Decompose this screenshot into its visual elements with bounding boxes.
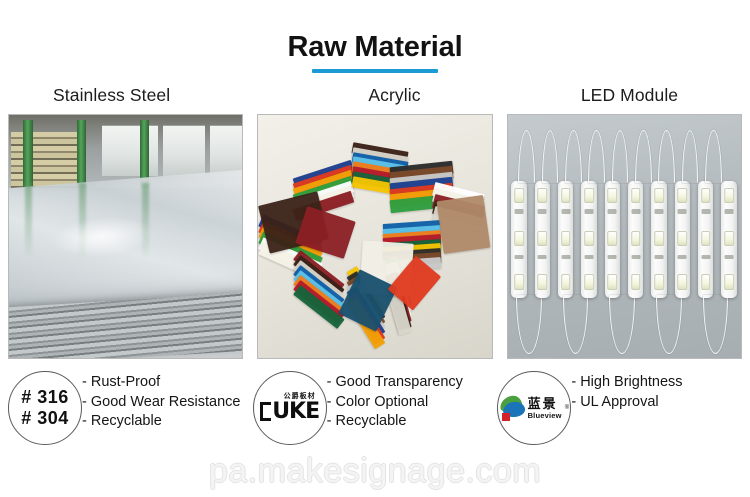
module-label — [585, 209, 594, 214]
blueview-logo-text: 蓝景 Blueview — [528, 398, 562, 420]
led-chip — [608, 188, 618, 203]
led-chip — [584, 188, 594, 203]
warehouse-window — [210, 125, 243, 176]
module-label — [725, 255, 734, 260]
feature-item: - Good Wear Resistance — [82, 393, 241, 412]
feature-list-acrylic: - Good Transparency - Color Optional - R… — [327, 367, 463, 431]
led-module — [535, 181, 550, 298]
feature-item: - Rust-Proof — [82, 373, 241, 392]
feature-cell-led-module: 蓝景 Blueview ® - High Brightness - UL App… — [497, 367, 742, 453]
led-chip — [654, 274, 664, 289]
led-chip — [561, 274, 571, 289]
module-label — [678, 209, 687, 214]
column-heading-led-module: LED Module — [581, 85, 678, 105]
led-module — [628, 181, 643, 298]
module-label — [701, 255, 710, 260]
module-label — [538, 255, 547, 260]
duke-logo: 公爵板材 UKE — [260, 393, 319, 423]
module-label — [725, 209, 734, 214]
led-chip — [514, 231, 524, 246]
led-module — [721, 181, 736, 298]
product-image-stainless-steel — [8, 114, 243, 359]
module-label — [655, 255, 664, 260]
duke-logo-wordmark: UKE — [260, 401, 319, 423]
blueview-chinese-text: 蓝景 — [528, 398, 562, 411]
led-chip — [678, 231, 688, 246]
brand-badge-led-module: 蓝景 Blueview ® — [497, 371, 571, 445]
blueview-swoosh-icon — [500, 395, 526, 421]
led-chip — [701, 231, 711, 246]
led-chip — [654, 188, 664, 203]
led-chip — [561, 231, 571, 246]
module-label — [561, 255, 570, 260]
led-chip — [654, 231, 664, 246]
module-label — [701, 209, 710, 214]
led-chip — [724, 188, 734, 203]
column-heading-acrylic: Acrylic — [368, 85, 420, 105]
module-label — [515, 255, 524, 260]
led-chip — [538, 231, 548, 246]
led-module — [651, 181, 666, 298]
module-label — [608, 255, 617, 260]
led-chip — [561, 188, 571, 203]
grade-badge-stainless-steel: # 316 # 304 — [8, 371, 82, 445]
led-chip — [724, 231, 734, 246]
blueview-wordmark: Blueview — [528, 412, 562, 420]
product-image-acrylic — [257, 114, 492, 359]
led-chip — [631, 188, 641, 203]
led-chip — [514, 274, 524, 289]
feature-item: - Good Transparency — [327, 373, 463, 392]
swoosh-red-square — [502, 413, 510, 421]
led-chip — [701, 188, 711, 203]
feature-list-led-module: - High Brightness - UL Approval — [571, 367, 682, 412]
led-module — [675, 181, 690, 298]
feature-row: # 316 # 304 - Rust-Proof - Good Wear Res… — [0, 367, 750, 453]
led-chip — [608, 274, 618, 289]
led-chip — [584, 231, 594, 246]
led-chip — [724, 274, 734, 289]
module-label — [655, 209, 664, 214]
feature-item: - UL Approval — [571, 393, 682, 412]
feature-item: - High Brightness — [571, 373, 682, 392]
led-chip — [514, 188, 524, 203]
led-module — [511, 181, 526, 298]
led-module — [698, 181, 713, 298]
feature-cell-stainless-steel: # 316 # 304 - Rust-Proof - Good Wear Res… — [8, 367, 253, 453]
led-module — [558, 181, 573, 298]
column-heading-cell-stainless-steel: Stainless Steel — [8, 85, 278, 106]
led-chip — [678, 274, 688, 289]
feature-item: - Color Optional — [327, 393, 463, 412]
brand-badge-acrylic: 公爵板材 UKE — [253, 371, 327, 445]
column-heading-cell-led-module: LED Module — [507, 85, 742, 106]
grade-badge-line-316: # 316 — [21, 387, 69, 408]
led-chip — [538, 188, 548, 203]
module-label — [678, 255, 687, 260]
pillar-reflection — [25, 183, 32, 256]
column-heading-stainless-steel: Stainless Steel — [53, 85, 170, 105]
product-photo-row — [0, 114, 750, 359]
page-title: Raw Material — [0, 32, 750, 62]
led-chip — [608, 231, 618, 246]
feature-list-stainless-steel: - Rust-Proof - Good Wear Resistance - Re… — [82, 367, 241, 431]
feature-cell-acrylic: 公爵板材 UKE - Good Transparency - Color Opt… — [253, 367, 498, 453]
warehouse-window — [163, 125, 205, 176]
registered-trademark-icon: ® — [565, 405, 569, 411]
site-watermark: pa.makesignage.com — [0, 452, 750, 491]
warehouse-window — [102, 125, 158, 176]
led-chip — [701, 274, 711, 289]
module-label — [515, 209, 524, 214]
module-label — [585, 255, 594, 260]
led-module — [605, 181, 620, 298]
led-chip — [678, 188, 688, 203]
led-chip — [631, 231, 641, 246]
acrylic-slab — [437, 195, 491, 254]
grade-badge-line-304: # 304 — [21, 408, 69, 429]
led-chip — [631, 274, 641, 289]
title-underline-accent — [312, 69, 438, 73]
duke-logo-d-glyph — [260, 402, 271, 421]
product-image-led-module — [507, 114, 742, 359]
module-label — [608, 209, 617, 214]
blueview-logo: 蓝景 Blueview ® — [500, 395, 570, 421]
led-chip — [538, 274, 548, 289]
feature-item: - Recyclable — [82, 412, 241, 431]
led-chip — [584, 274, 594, 289]
feature-item: - Recyclable — [327, 412, 463, 431]
column-headings-row: Stainless Steel Acrylic LED Module — [0, 85, 750, 106]
module-label — [561, 209, 570, 214]
module-label — [631, 255, 640, 260]
led-module — [581, 181, 596, 298]
column-heading-cell-acrylic: Acrylic — [278, 85, 507, 106]
module-label — [538, 209, 547, 214]
module-label — [631, 209, 640, 214]
duke-logo-uke-text: UKE — [272, 399, 319, 424]
page-header: Raw Material — [0, 0, 750, 73]
